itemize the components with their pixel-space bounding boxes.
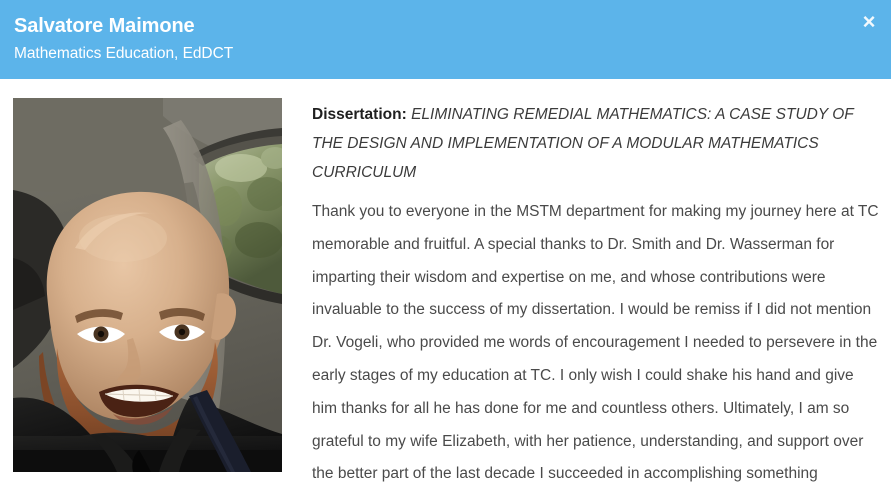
- modal-body: Dissertation: ELIMINATING REMEDIAL MATHE…: [0, 79, 891, 484]
- profile-photo: [13, 98, 282, 472]
- profile-text-column: Dissertation: ELIMINATING REMEDIAL MATHE…: [312, 100, 879, 484]
- profile-modal: Salvatore Maimone Mathematics Education,…: [0, 0, 891, 484]
- dissertation-label: Dissertation:: [312, 106, 407, 123]
- dissertation-line: Dissertation: ELIMINATING REMEDIAL MATHE…: [312, 100, 879, 187]
- profile-photo-image: [13, 98, 282, 472]
- modal-header: Salvatore Maimone Mathematics Education,…: [0, 0, 891, 79]
- person-program: Mathematics Education, EdDCT: [14, 45, 233, 63]
- close-icon[interactable]: ×: [856, 9, 882, 35]
- acknowledgement-text: Thank you to everyone in the MSTM depart…: [312, 196, 879, 484]
- person-name: Salvatore Maimone: [14, 15, 195, 38]
